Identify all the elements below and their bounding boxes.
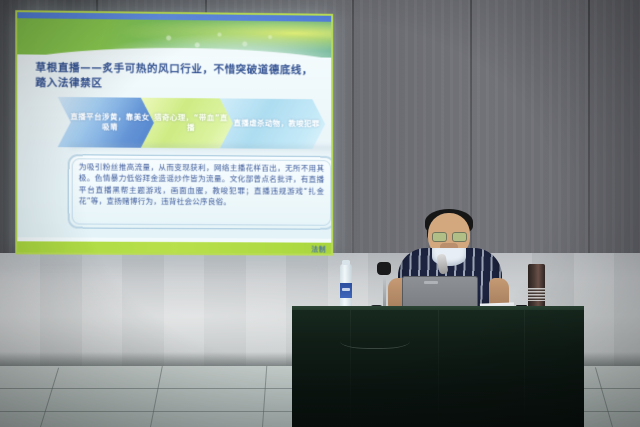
table-cloth — [292, 310, 584, 427]
chevron-process-row: 直播平台涉黄，靠美女吸睛 猎奇心理，“带血”直播 直播虐杀动物，教唆犯罪 — [70, 97, 333, 149]
eyeglasses-right-lens — [452, 232, 467, 242]
chevron-step-3: 直播虐杀动物，教唆犯罪 — [220, 98, 325, 149]
slide-title: 草根直播——炙手可热的风口行业，不惜突破道德底线，踏入法律禁区 — [35, 61, 319, 94]
desk-microphone-head — [377, 262, 391, 275]
cloth-fold — [438, 310, 439, 427]
chevron-step-2: 猎奇心理，“带血”直播 — [141, 98, 233, 149]
cloth-fold — [350, 310, 351, 427]
floor-grid-line — [150, 366, 163, 427]
slide-text-box: 为吸引粉丝推高流量，从而变现获利，网络主播花样百出，无所不用其极。色情暴力低俗拜… — [68, 154, 333, 230]
chevron-step-1: 直播平台涉黄，靠美女吸睛 — [58, 97, 154, 148]
cloth-fold — [524, 310, 525, 427]
table-cable — [340, 330, 410, 349]
eyeglasses-left-lens — [432, 232, 447, 242]
slide-watermark: 法制 — [311, 245, 326, 255]
textbox-corner-bottom-right — [320, 215, 333, 230]
slide-bottom-band — [15, 241, 333, 255]
water-bottle-cap — [342, 260, 350, 265]
floor-grid-line — [40, 368, 59, 427]
floor-grid-line — [595, 367, 613, 427]
water-bottle-label — [340, 283, 352, 298]
thermos-band — [528, 288, 545, 301]
slide-body-paragraph: 为吸引粉丝推高流量，从而变现获利，网络主播花样百出，无所不用其极。色情暴力低俗拜… — [79, 161, 324, 208]
screenshot-scene: 草根直播——炙手可热的风口行业，不惜突破道德底线，踏入法律禁区 直播平台涉黄，靠… — [0, 0, 640, 427]
projected-slide: 草根直播——炙手可热的风口行业，不惜突破道德底线，踏入法律禁区 直播平台涉黄，靠… — [15, 10, 333, 256]
laptop-logo — [424, 281, 438, 284]
floor-grid-line — [262, 366, 267, 427]
